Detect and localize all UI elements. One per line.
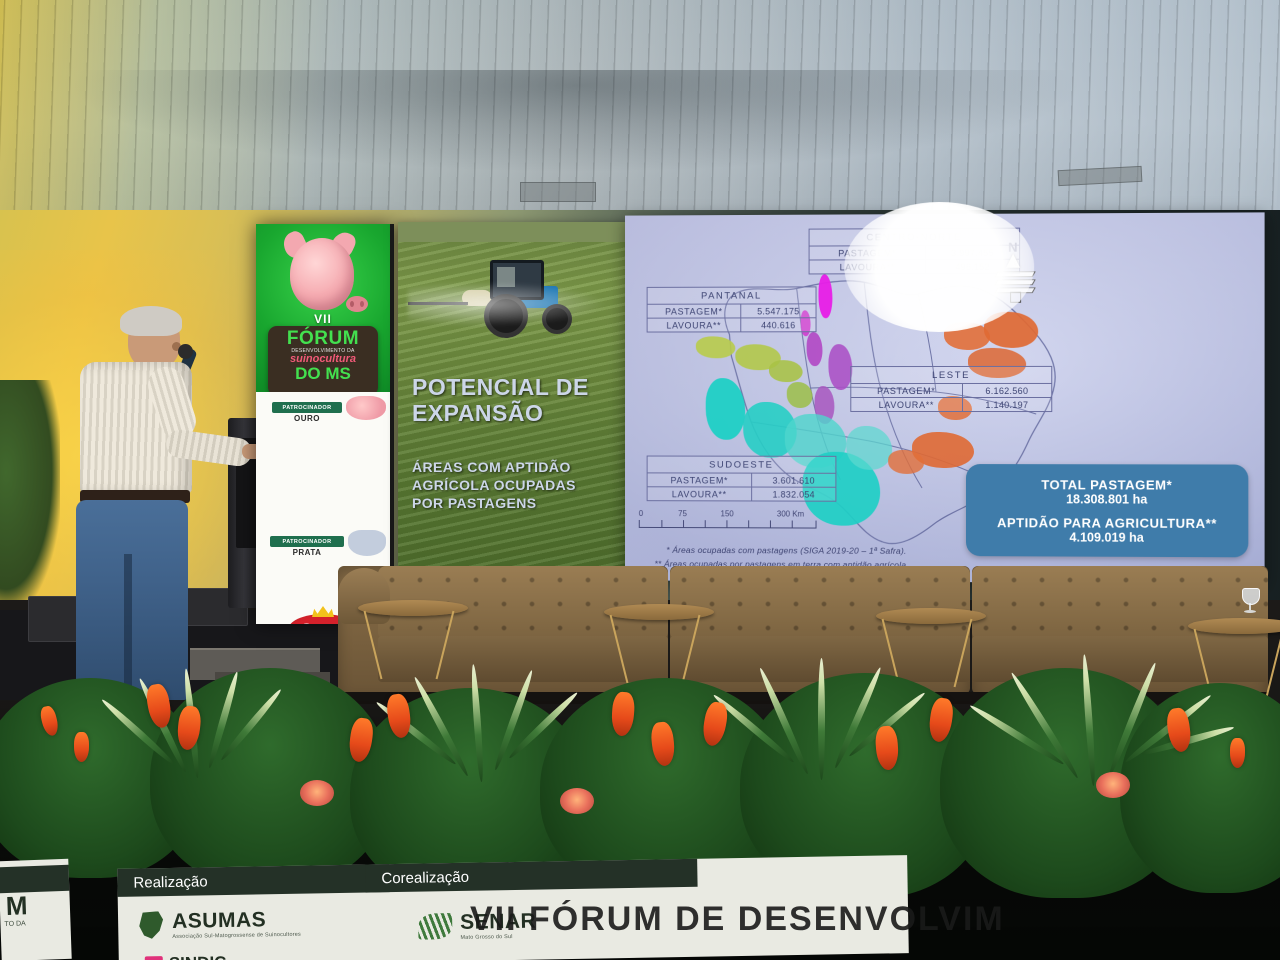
map-scale-bar: 0 75 150 300 Km xyxy=(639,509,817,528)
left-fragment-letter: M xyxy=(5,890,28,922)
tag-realizacao: Realização xyxy=(117,864,389,897)
pig-icon xyxy=(346,396,386,420)
sponsor-gold-level: OURO xyxy=(272,414,342,423)
bottom-banner-left-fragment: M TO DA xyxy=(0,859,72,960)
side-table xyxy=(876,608,986,664)
side-table xyxy=(604,604,714,660)
table-leste: LESTE PASTAGEM* 6.162.560 LAVOURA** 1.14… xyxy=(850,366,1052,412)
row-value-pastagem: 3.601.610 xyxy=(752,474,835,487)
table-pantanal: PANTANAL PASTAGEM* 5.547.175 LAVOURA** 4… xyxy=(647,286,817,332)
row-label-pastagem: PASTAGEM* xyxy=(648,473,753,486)
banner-subhead: ÁREAS COM APTIDÃO AGRÍCOLA OCUPADAS POR … xyxy=(412,458,612,512)
row-label-pastagem: PASTAGEM* xyxy=(810,246,927,259)
banner-subhead-line3: POR PASTAGENS xyxy=(412,495,536,511)
map-patch-leste xyxy=(984,312,1038,348)
ceiling-shadow xyxy=(0,70,1280,225)
table-row: PASTAGEM* 5.547.175 xyxy=(648,304,816,318)
banner-subhead-line1: ÁREAS COM APTIDÃO xyxy=(412,459,571,475)
row-label-pastagem: PASTAGEM* xyxy=(851,384,962,397)
sindic-mark-icon xyxy=(145,956,163,960)
sponsor-gold-tag: PATROCINADOR xyxy=(272,402,342,413)
map-patch-centro-norte xyxy=(807,332,823,366)
banner-overlay-text: VII FÓRUM DE DESENVOLVIM xyxy=(470,900,1090,939)
table-sudoeste: SUDOESTE PASTAGEM* 3.601.610 LAVOURA** 1… xyxy=(647,456,837,502)
total-pastagem-label: TOTAL PASTAGEM* xyxy=(966,477,1248,493)
compass-north-label: N xyxy=(1008,240,1017,255)
table-row: LAVOURA** 496.152 xyxy=(810,260,1020,274)
banner-horizon xyxy=(398,222,626,242)
map-patch-pantanal xyxy=(696,336,735,358)
wheat-icon xyxy=(418,913,452,940)
map-patch-pantanal xyxy=(787,382,813,408)
row-label-lavoura: LAVOURA** xyxy=(810,260,927,273)
table-row: PASTAGEM* 3.601.610 xyxy=(648,473,836,487)
side-table xyxy=(358,600,468,656)
row-value-pastagem: 5.547.175 xyxy=(741,304,815,317)
stage-sofa xyxy=(338,566,1268,694)
table-sudoeste-header: SUDOESTE xyxy=(648,457,836,474)
sponsor-silver-tag: PATROCINADOR xyxy=(270,536,344,547)
map-patch-leste xyxy=(888,450,924,474)
forum-logo: FÓRUM DESENVOLVIMENTO DA suinocultura DO… xyxy=(268,326,378,396)
ceiling xyxy=(0,0,1280,225)
row-value-lavoura: 1.140.197 xyxy=(963,398,1052,411)
asumas-name: ASUMAS Associação Sul-Matogrossense de S… xyxy=(172,908,301,940)
led-sponsor-panel: VII FÓRUM DESENVOLVIMENTO DA suinocultur… xyxy=(256,224,394,624)
forum-logo-state: DO MS xyxy=(268,365,378,382)
table-centro-norte-header: CENTRO-NORTE xyxy=(810,229,1020,247)
side-table xyxy=(1188,618,1280,674)
pig-illustration xyxy=(290,238,354,310)
projection-screen: CENTRO-NORTE PASTAGEM* 3.997.455 LAVOURA… xyxy=(625,212,1265,583)
state-map-icon xyxy=(138,911,164,939)
asumas-name-text: ASUMAS xyxy=(172,908,266,933)
table-row: PASTAGEM* 3.997.455 xyxy=(810,246,1020,261)
led-top-green: VII FÓRUM DESENVOLVIMENTO DA suinocultur… xyxy=(256,224,390,392)
table-row: LAVOURA** 1.832.054 xyxy=(648,487,836,500)
row-label-pastagem: PASTAGEM* xyxy=(648,305,742,318)
row-value-lavoura: 440.616 xyxy=(741,318,815,331)
scale-tick-300: 300 Km xyxy=(777,509,804,518)
cow-icon xyxy=(348,530,386,556)
scale-tick-0: 0 xyxy=(639,509,643,518)
sponsor-silver-level: PRATA xyxy=(270,548,344,557)
forum-edition-number: VII xyxy=(256,312,390,326)
footnote-1: * Áreas ocupadas com pastagens (SIGA 201… xyxy=(666,545,906,556)
scale-tick-150: 150 xyxy=(721,509,734,518)
tag-corealizacao: Corealização xyxy=(365,859,697,893)
scale-labels: 0 75 150 300 Km xyxy=(639,509,817,521)
pig-snout-icon xyxy=(346,296,368,312)
table-pantanal-header: PANTANAL xyxy=(648,287,816,304)
banner-headline: POTENCIAL DE EXPANSÃO xyxy=(412,374,622,426)
ceiling-vent xyxy=(520,182,596,202)
row-label-lavoura: LAVOURA** xyxy=(851,398,962,411)
tractor-spray-mist xyxy=(408,280,618,328)
compass-arrow xyxy=(1006,254,1020,268)
presenter-hair xyxy=(120,306,182,336)
asumas-logo: ASUMAS Associação Sul-Matogrossense de S… xyxy=(138,908,301,941)
drinking-glass xyxy=(1242,588,1258,614)
row-value-lavoura: 1.832.054 xyxy=(752,488,835,501)
sindic-name-text: SINDIC xyxy=(169,953,227,960)
scale-bar-line xyxy=(639,520,817,529)
left-fragment-sub: TO DA xyxy=(4,920,25,928)
table-row: LAVOURA** 440.616 xyxy=(648,318,816,331)
forum-logo-title: FÓRUM xyxy=(268,330,378,348)
presenter xyxy=(62,304,267,704)
north-arrow-icon: N xyxy=(994,240,1038,300)
scale-tick-75: 75 xyxy=(678,509,687,518)
side-table-top xyxy=(1188,618,1280,634)
row-value-pastagem: 6.162.560 xyxy=(963,384,1052,397)
row-label-lavoura: LAVOURA** xyxy=(648,318,742,331)
map-patch-centro-norte xyxy=(819,274,833,318)
sindic-logo: SINDIC xyxy=(145,953,227,960)
total-pastagem-value: 18.308.801 ha xyxy=(966,492,1248,507)
banner-subhead-line2: AGRÍCOLA OCUPADAS xyxy=(412,477,576,493)
table-leste-header: LESTE xyxy=(851,367,1051,384)
crown-icon xyxy=(312,606,334,617)
asumas-sub: Associação Sul-Matogrossense de Suinocul… xyxy=(172,932,301,940)
presenter-jeans xyxy=(76,500,188,700)
row-label-lavoura: LAVOURA** xyxy=(648,487,753,500)
printed-banner: POTENCIAL DE EXPANSÃO ÁREAS COM APTIDÃO … xyxy=(398,222,626,582)
conference-photo-scene: VII FÓRUM DESENVOLVIMENTO DA suinocultur… xyxy=(0,0,1280,960)
banner-tag-strip xyxy=(0,865,69,893)
map-patch-pantanal xyxy=(769,360,803,382)
total-aptidao-value: 4.109.019 ha xyxy=(966,530,1248,545)
total-aptidao-label: APTIDÃO PARA AGRICULTURA** xyxy=(966,515,1248,531)
total-summary-box: TOTAL PASTAGEM* 18.308.801 ha APTIDÃO PA… xyxy=(966,464,1248,557)
table-row: PASTAGEM* 6.162.560 xyxy=(851,384,1051,398)
table-centro-norte: CENTRO-NORTE PASTAGEM* 3.997.455 LAVOURA… xyxy=(809,228,1021,275)
wall-side-foliage xyxy=(0,380,60,610)
table-row: LAVOURA** 1.140.197 xyxy=(851,398,1051,411)
